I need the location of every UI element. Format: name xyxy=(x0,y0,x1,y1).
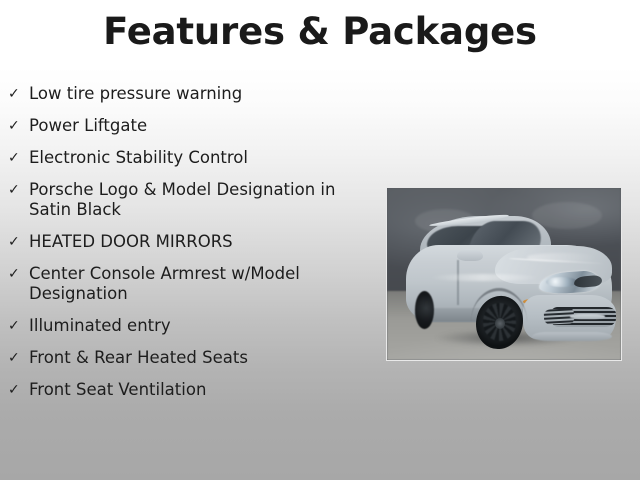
slide-canvas: Features & Packages ✓ Low tire pressure … xyxy=(0,0,640,480)
list-item: ✓ Center Console Armrest w/Model Designa… xyxy=(8,264,374,304)
car-front-wheel-hub xyxy=(495,318,506,329)
list-item: ✓ Porsche Logo & Model Designation in Sa… xyxy=(8,180,374,220)
list-item-label: Low tire pressure warning xyxy=(29,84,374,104)
car-illustration xyxy=(387,188,621,360)
car-grille-bar xyxy=(570,314,605,319)
check-icon: ✓ xyxy=(8,180,24,200)
car-hood-highlight xyxy=(527,253,597,262)
list-item: ✓ Illuminated entry xyxy=(8,316,374,336)
list-item: ✓ Front & Rear Heated Seats xyxy=(8,348,374,368)
car-body-highlight xyxy=(429,274,537,281)
check-icon: ✓ xyxy=(8,84,24,104)
list-item: ✓ Electronic Stability Control xyxy=(8,148,374,168)
car-headlight-lens xyxy=(546,277,576,287)
car-side-mirror xyxy=(457,249,483,261)
list-item: ✓ Power Liftgate xyxy=(8,116,374,136)
list-item-label: Power Liftgate xyxy=(29,116,374,136)
check-icon: ✓ xyxy=(8,232,24,252)
list-item-label: Porsche Logo & Model Designation in Sati… xyxy=(29,180,374,220)
list-item: ✓ HEATED DOOR MIRRORS xyxy=(8,232,374,252)
vehicle-photo-canvas xyxy=(387,188,621,360)
check-icon: ✓ xyxy=(8,380,24,400)
check-icon: ✓ xyxy=(8,264,24,284)
list-item-label: Electronic Stability Control xyxy=(29,148,374,168)
list-item-label: Illuminated entry xyxy=(29,316,374,336)
car-lower-lip xyxy=(532,332,612,341)
check-icon: ✓ xyxy=(8,316,24,336)
list-item-label: Front Seat Ventilation xyxy=(29,380,374,400)
car-rear-wheel xyxy=(415,291,434,329)
list-item-label: Front & Rear Heated Seats xyxy=(29,348,374,368)
check-icon: ✓ xyxy=(8,348,24,368)
car-door-seam xyxy=(457,260,458,305)
list-item: ✓ Low tire pressure warning xyxy=(8,84,374,104)
page-title: Features & Packages xyxy=(0,9,640,55)
vehicle-photo xyxy=(386,187,622,361)
list-item-label: HEATED DOOR MIRRORS xyxy=(29,232,374,252)
list-item: ✓ Front Seat Ventilation xyxy=(8,380,374,400)
features-list: ✓ Low tire pressure warning ✓ Power Lift… xyxy=(8,84,374,400)
check-icon: ✓ xyxy=(8,116,24,136)
check-icon: ✓ xyxy=(8,148,24,168)
list-item-label: Center Console Armrest w/Model Designati… xyxy=(29,264,374,304)
